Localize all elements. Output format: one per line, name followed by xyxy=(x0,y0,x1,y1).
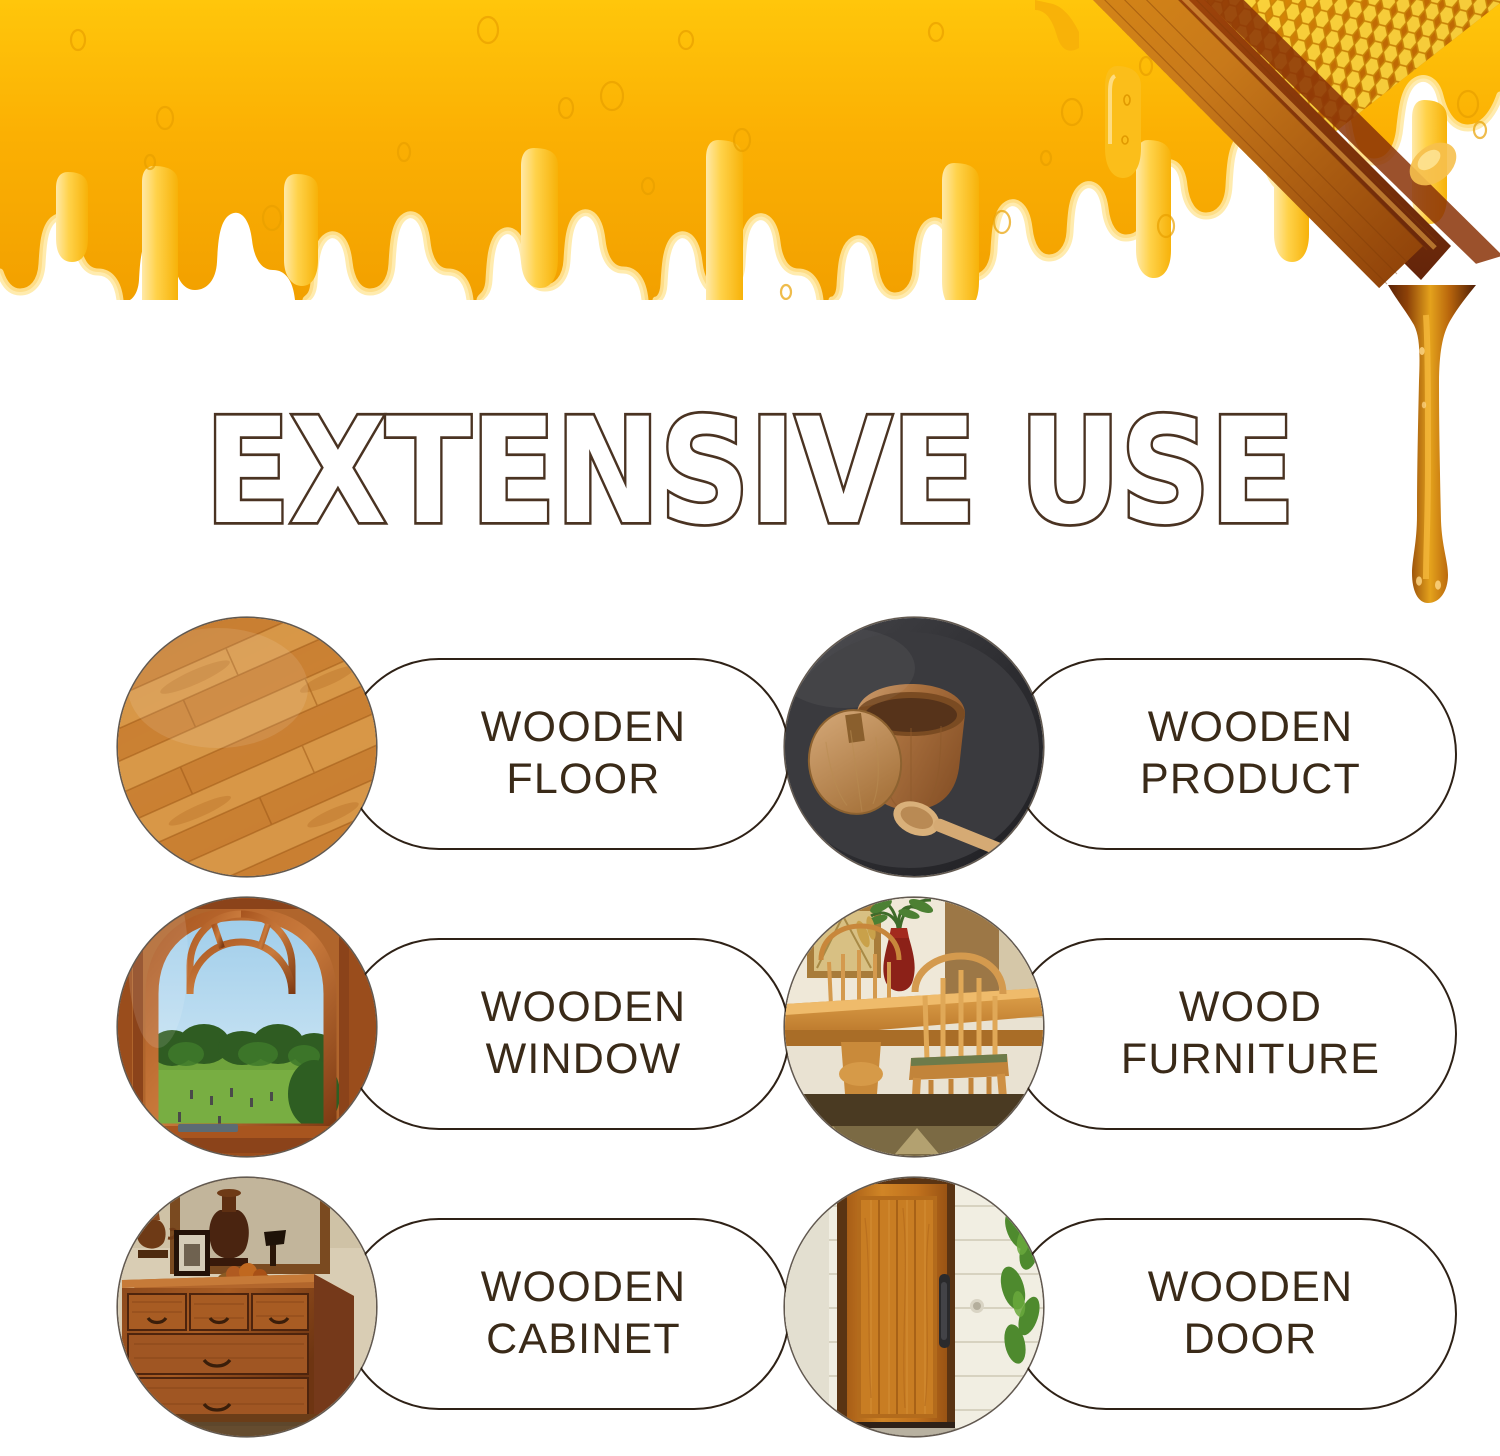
wooden-floor-photo xyxy=(118,618,376,876)
use-case-label: WOOD FURNITURE xyxy=(1010,938,1457,1130)
use-case-label-line1: WOOD xyxy=(1179,985,1322,1031)
use-case-label-line1: WOODEN xyxy=(1148,705,1353,751)
honeycomb-frame xyxy=(1035,0,1500,332)
page-title: EXTENSIVE USE xyxy=(205,399,1295,545)
use-case-label: WOODEN DOOR xyxy=(1010,1218,1457,1410)
use-case-label-line2: FURNITURE xyxy=(1121,1037,1380,1083)
use-case-label: WOODEN CABINET xyxy=(343,1218,790,1410)
use-case-label: WOODEN PRODUCT xyxy=(1010,658,1457,850)
use-case-label-line2: CABINET xyxy=(486,1317,681,1363)
use-case-label-line2: WINDOW xyxy=(486,1037,682,1083)
wooden-window-photo xyxy=(118,898,376,1156)
use-case-label-line1: WOODEN xyxy=(481,985,686,1031)
use-case-label-line1: WOODEN xyxy=(481,1265,686,1311)
use-case-label-line2: PRODUCT xyxy=(1140,757,1361,803)
use-case-label-line1: WOODEN xyxy=(481,705,686,751)
use-case-item[interactable]: WOODEN CABINET xyxy=(118,1178,790,1438)
wooden-door-photo xyxy=(785,1178,1043,1436)
use-case-label: WOODEN FLOOR xyxy=(343,658,790,850)
use-case-label-line2: DOOR xyxy=(1184,1317,1318,1363)
use-case-item[interactable]: WOODEN WINDOW xyxy=(118,898,790,1158)
use-case-label: WOODEN WINDOW xyxy=(343,938,790,1130)
use-case-item[interactable]: WOOD FURNITURE xyxy=(785,898,1457,1158)
use-case-grid: WOODEN FLOOR xyxy=(0,618,1500,1456)
use-case-item[interactable]: WOODEN FLOOR xyxy=(118,618,790,878)
use-case-label-line2: FLOOR xyxy=(506,757,660,803)
use-case-item[interactable]: WOODEN PRODUCT xyxy=(785,618,1457,878)
wooden-cabinet-photo xyxy=(118,1178,376,1436)
use-case-item[interactable]: WOODEN DOOR xyxy=(785,1178,1457,1438)
page-title-container: EXTENSIVE USE xyxy=(0,388,1500,556)
wooden-product-photo xyxy=(785,618,1043,876)
use-case-label-line1: WOODEN xyxy=(1148,1265,1353,1311)
wood-furniture-photo xyxy=(785,898,1043,1156)
